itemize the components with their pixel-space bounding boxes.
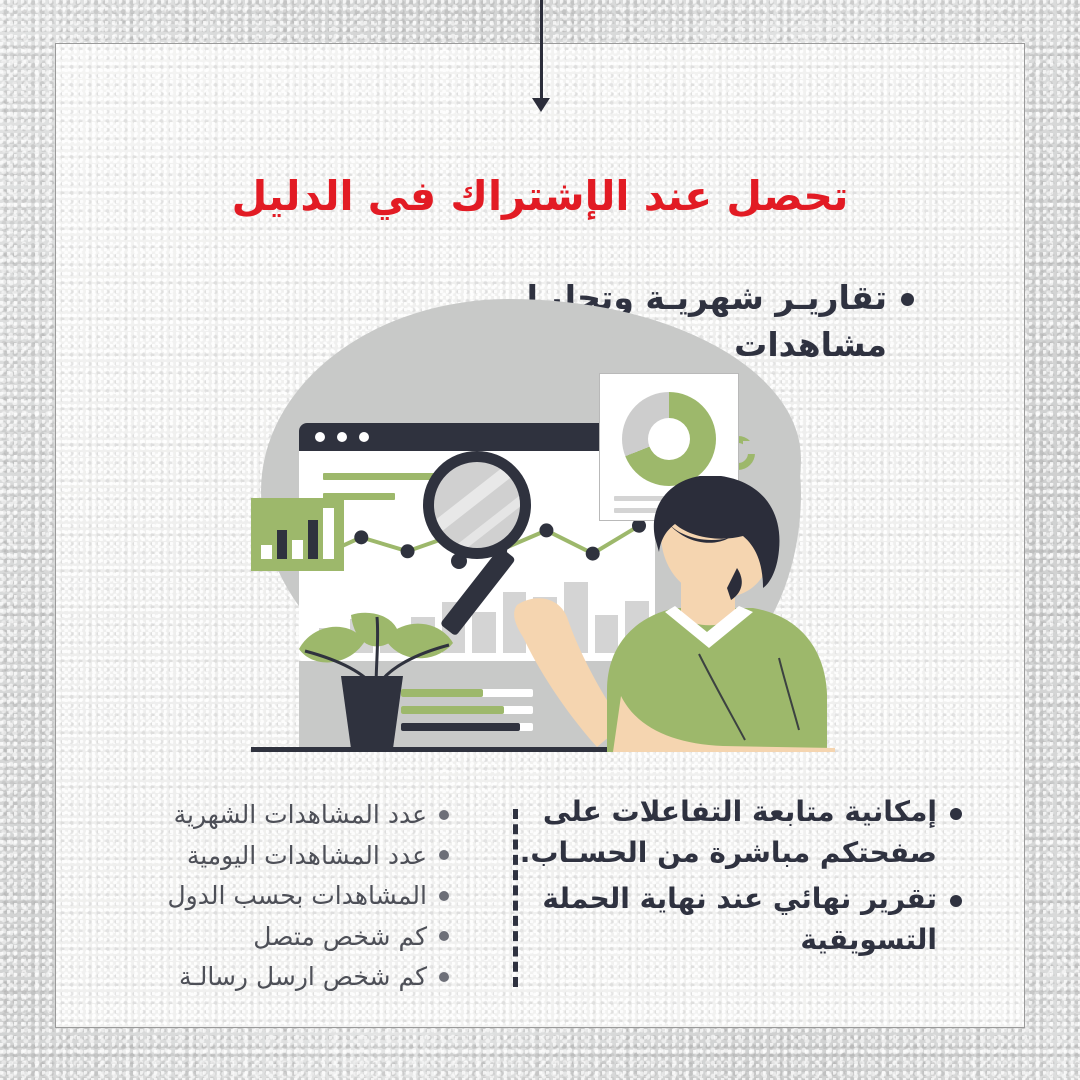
progress-fill-2: [401, 706, 504, 714]
line-chart-node: [354, 530, 368, 544]
line-chart-node: [401, 544, 415, 558]
left-list-item: كم شخص ارسل رسالـة: [69, 958, 449, 996]
right-bullet-label: تقرير نهائي عند نهاية الحملة التسويقية: [462, 879, 937, 960]
list-dot-icon: [439, 931, 449, 941]
left-list-label: المشاهدات بحسب الدول: [168, 877, 428, 915]
list-dot-icon: [439, 810, 449, 820]
person-figure: [603, 476, 835, 752]
right-bullet-item: إمكانية متابعة التفاعلات على صفحتكم مباش…: [462, 792, 962, 873]
badge-bar: [323, 508, 334, 559]
data-analytics-illustration: [251, 291, 821, 741]
list-dot-icon: [439, 972, 449, 982]
bar-chart-bar: [472, 612, 496, 653]
bullet-dot-icon: [950, 808, 962, 820]
browser-dot-icon-3: [359, 432, 369, 442]
left-feature-list: عدد المشاهدات الشهريةعدد المشاهدات اليوم…: [69, 796, 449, 999]
list-dot-icon: [439, 850, 449, 860]
down-arrow-icon-shaft: [540, 0, 543, 108]
bullet-dot-icon: [950, 895, 962, 907]
line-chart-node: [586, 547, 600, 561]
badge-bar: [308, 520, 319, 559]
list-dot-icon: [439, 891, 449, 901]
right-bullet-label: إمكانية متابعة التفاعلات على صفحتكم مباش…: [462, 792, 937, 873]
right-bullet-item: تقرير نهائي عند نهاية الحملة التسويقية: [462, 879, 962, 960]
bullet-dot-icon: [901, 293, 914, 306]
potted-plant-icon-pot: [341, 676, 403, 748]
magnifying-glass-icon-lens: [423, 451, 531, 559]
left-list-label: عدد المشاهدات الشهرية: [174, 796, 427, 834]
line-chart-node: [539, 523, 553, 537]
left-list-label: كم شخص ارسل رسالـة: [179, 958, 427, 996]
badge-bar: [261, 545, 272, 559]
left-list-item: عدد المشاهدات الشهرية: [69, 796, 449, 834]
down-arrow-icon-head: [532, 98, 550, 112]
badge-bar: [277, 530, 288, 559]
left-list-item: المشاهدات بحسب الدول: [69, 877, 449, 915]
browser-dot-icon-2: [337, 432, 347, 442]
left-list-label: كم شخص متصل: [253, 918, 427, 956]
poster-canvas: تحصل عند الإشتراك في الدليل تقاريـر شهري…: [0, 0, 1080, 1080]
left-list-item: كم شخص متصل: [69, 918, 449, 956]
bar-chart-badge-icon: [251, 498, 344, 571]
content-panel: تحصل عند الإشتراك في الدليل تقاريـر شهري…: [55, 43, 1025, 1028]
left-list-label: عدد المشاهدات اليومية: [187, 837, 427, 875]
right-bullet-list: إمكانية متابعة التفاعلات على صفحتكم مباش…: [462, 792, 962, 966]
left-list-item: عدد المشاهدات اليومية: [69, 837, 449, 875]
browser-dot-icon-1: [315, 432, 325, 442]
badge-bar: [292, 540, 303, 559]
donut-card-chart: [622, 392, 716, 486]
page-title: تحصل عند الإشتراك في الدليل: [56, 172, 1024, 220]
